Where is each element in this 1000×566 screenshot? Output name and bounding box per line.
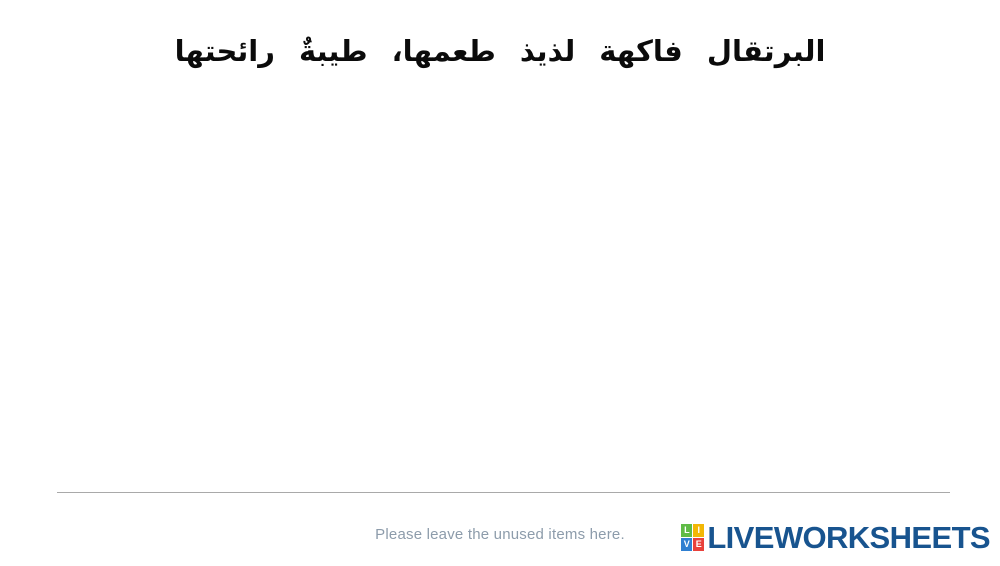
logo-tile-e: E [693, 538, 704, 551]
logo-tile-i: I [693, 524, 704, 537]
answer-drop-area[interactable] [0, 100, 1000, 485]
worksheet-sentence: البرتقال فاكهة لذيذ طعمها، طيبةٌ رائحتها [0, 32, 1000, 71]
logo-tile-l: L [681, 524, 692, 537]
liveworksheets-logo[interactable]: L I V E LIVEWORKSHEETS [681, 522, 990, 553]
logo-tile-grid: L I V E [681, 524, 704, 551]
logo-tile-v: V [681, 538, 692, 551]
footer-divider [57, 492, 950, 493]
footer: Please leave the unused items here. L I … [0, 500, 1000, 566]
logo-wordmark: LIVEWORKSHEETS [707, 522, 990, 553]
